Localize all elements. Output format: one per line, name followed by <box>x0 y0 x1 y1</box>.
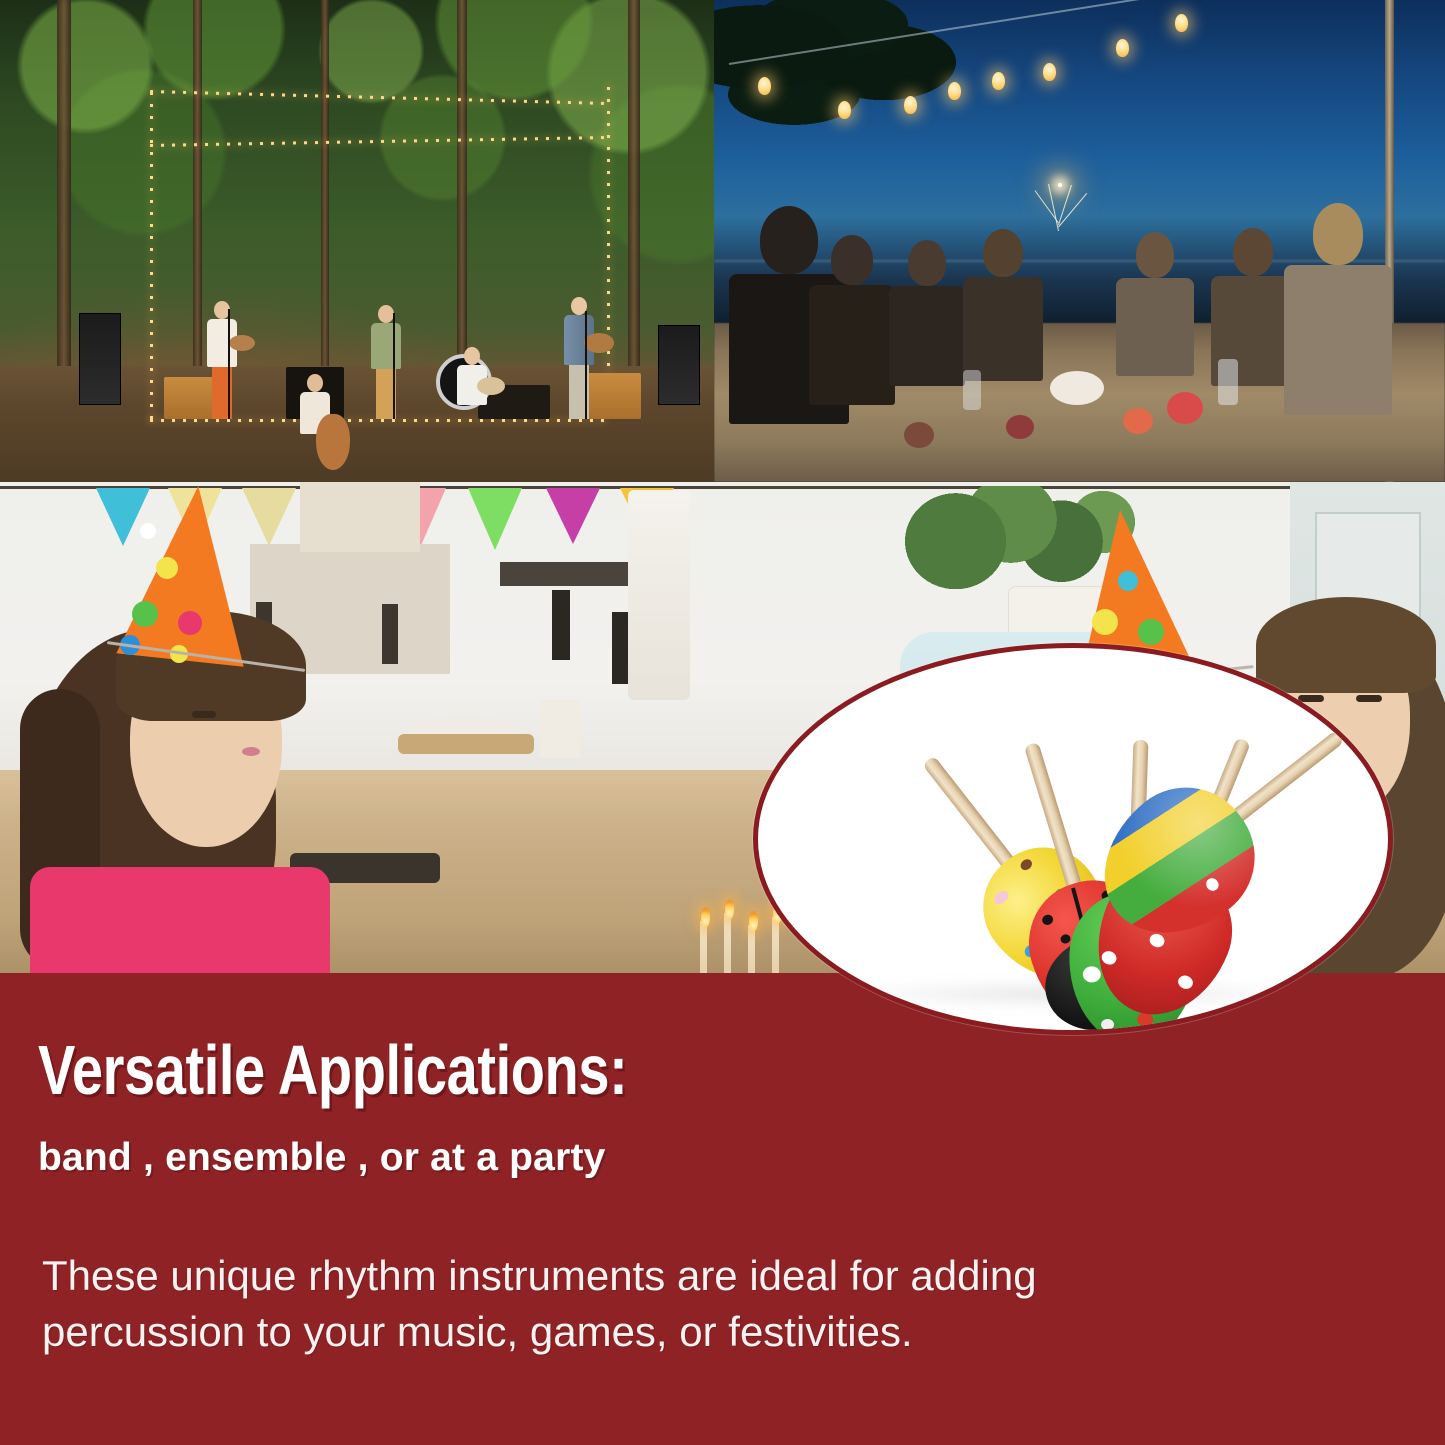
tree-trunk <box>321 0 329 376</box>
hat-dot <box>132 601 158 627</box>
tree-trunk <box>457 0 467 376</box>
fruit <box>1006 415 1034 439</box>
headline: Versatile Applications: <box>38 1028 694 1112</box>
drink-glass <box>1218 359 1238 405</box>
hat-dot <box>1092 609 1118 635</box>
hat-dot <box>1138 619 1164 645</box>
light-bulb <box>838 101 851 119</box>
hanging-garland <box>628 490 690 700</box>
mic-stand <box>585 311 587 419</box>
pa-speaker <box>79 313 121 405</box>
tree-trunk <box>57 0 71 376</box>
string-light-span <box>150 419 607 422</box>
pa-speaker <box>658 325 700 405</box>
tree-trunk <box>193 0 202 376</box>
body-paragraph: These unique rhythm instruments are idea… <box>42 1248 1222 1360</box>
musician <box>371 305 401 419</box>
musician <box>207 301 237 419</box>
musician-guitarist <box>457 347 487 405</box>
light-bulb <box>904 96 917 114</box>
birthday-candle <box>748 925 755 979</box>
photo-forest-band <box>0 0 714 482</box>
birthday-candle <box>724 913 731 979</box>
guest <box>809 235 895 405</box>
canister <box>540 700 580 758</box>
child-left <box>20 482 350 979</box>
string-light-post <box>607 87 610 420</box>
bunting-flag <box>546 488 600 544</box>
tree-trunk <box>628 0 640 376</box>
serving-bowl <box>1050 371 1104 405</box>
light-bulb <box>948 82 961 100</box>
subheadline: band , ensemble , or at a party <box>38 1132 898 1184</box>
hat-dot <box>156 557 178 579</box>
sparkler-wire <box>1048 184 1059 231</box>
light-bulb <box>992 72 1005 90</box>
light-bulb <box>758 77 771 95</box>
musician-lead <box>564 297 594 419</box>
mic-stand <box>393 313 395 419</box>
cutting-board <box>398 734 534 754</box>
light-bulb <box>1116 39 1129 57</box>
hat-dot <box>140 523 156 539</box>
wall-hook <box>382 604 398 664</box>
sparkler-wire <box>1034 191 1058 224</box>
string-light-post <box>150 92 153 420</box>
guest <box>1116 232 1194 376</box>
guest <box>963 229 1043 381</box>
marketing-banner: Versatile Applications: band , ensemble … <box>0 0 1445 1445</box>
musician-cellist <box>300 374 330 434</box>
hat-dot <box>1118 571 1138 591</box>
photo-night-picnic <box>714 0 1445 482</box>
candle-flame <box>749 911 758 931</box>
sparkler <box>1058 183 1062 187</box>
guest <box>889 240 965 386</box>
candle-flame <box>725 899 734 919</box>
wall-rail <box>500 562 640 586</box>
product-photo-oval <box>753 643 1393 1035</box>
hat-dot <box>178 611 202 635</box>
drink-glass <box>963 370 981 410</box>
bunting-flag <box>468 488 522 550</box>
birthday-candle <box>772 917 779 979</box>
wall-hook <box>552 590 570 660</box>
mic-stand <box>228 309 230 419</box>
candle-flame <box>701 907 710 927</box>
fruit <box>1123 408 1153 434</box>
light-bulb <box>1043 63 1056 81</box>
guest <box>1284 203 1392 415</box>
birthday-candle <box>700 921 707 979</box>
light-bulb <box>1175 14 1188 32</box>
